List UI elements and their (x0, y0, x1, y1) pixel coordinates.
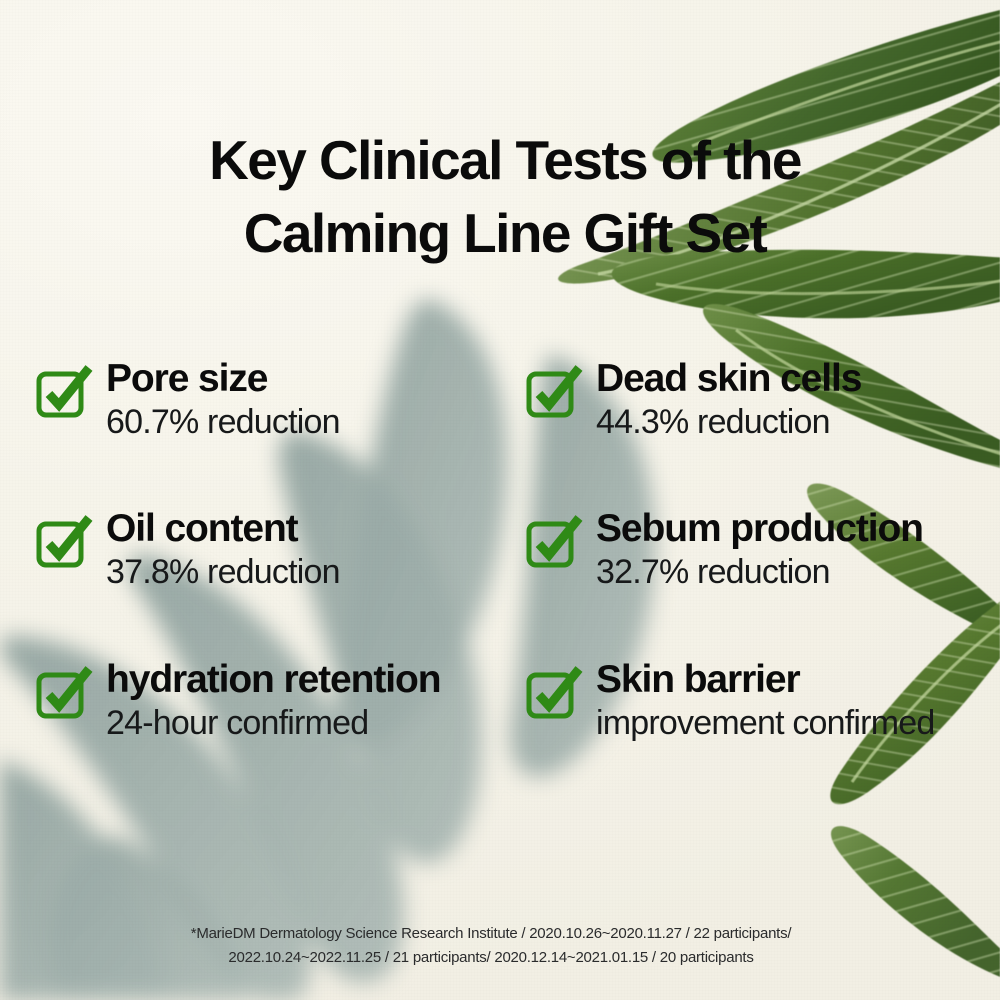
page-title-line-2: Calming Line Gift Set (10, 197, 1000, 270)
metric-subtitle: 44.3% reduction (596, 403, 830, 441)
metric-item-oil-content: Oil content 37.8% reduction (0, 508, 500, 594)
metric-subtitle: 24-hour confirmed (106, 704, 368, 742)
metric-title: hydration retention (106, 658, 440, 701)
poster-content: Key Clinical Tests of the Calming Line G… (0, 0, 1000, 1000)
page-title: Key Clinical Tests of the Calming Line G… (0, 124, 1000, 269)
metric-title: Sebum production (596, 507, 923, 550)
metric-item-hydration-retention: hydration retention 24-hour confirmed (0, 659, 500, 745)
metric-labels: Pore size 60.7% reduction (106, 358, 500, 444)
metric-item-sebum-production: Sebum production 32.7% reduction (500, 508, 1000, 594)
study-footnote-line-1: *MarieDM Dermatology Science Research In… (0, 922, 982, 946)
metric-item-skin-barrier: Skin barrier improvement confirmed (500, 659, 1000, 745)
page-title-line-1: Key Clinical Tests of the (10, 124, 1000, 197)
results-row: Pore size 60.7% reduction Dead skin cell… (0, 358, 1000, 444)
metric-title: Dead skin cells (596, 357, 861, 400)
checkbox-checked-icon (526, 667, 584, 719)
study-footnote-line-2: 2022.10.24~2022.11.25 / 21 participants/… (0, 946, 982, 970)
metric-labels: hydration retention 24-hour confirmed (106, 659, 500, 745)
checkbox-checked-icon (526, 516, 584, 568)
study-footnote: *MarieDM Dermatology Science Research In… (0, 922, 1000, 971)
checkbox-checked-icon (36, 366, 94, 418)
clinical-results-grid: Pore size 60.7% reduction Dead skin cell… (0, 358, 1000, 745)
metric-title: Pore size (106, 357, 267, 400)
metric-subtitle: 60.7% reduction (106, 403, 340, 441)
metric-item-pore-size: Pore size 60.7% reduction (0, 358, 500, 444)
checkbox-checked-icon (526, 366, 584, 418)
metric-labels: Dead skin cells 44.3% reduction (596, 358, 1000, 444)
metric-title: Oil content (106, 507, 298, 550)
metric-subtitle: 32.7% reduction (596, 553, 830, 591)
metric-item-dead-skin-cells: Dead skin cells 44.3% reduction (500, 358, 1000, 444)
checkbox-checked-icon (36, 667, 94, 719)
metric-title: Skin barrier (596, 658, 800, 701)
metric-subtitle: 37.8% reduction (106, 553, 340, 591)
metric-labels: Oil content 37.8% reduction (106, 508, 500, 594)
results-row: hydration retention 24-hour confirmed Sk… (0, 659, 1000, 745)
metric-subtitle: improvement confirmed (596, 704, 934, 742)
results-row: Oil content 37.8% reduction Sebum produc… (0, 508, 1000, 594)
metric-labels: Sebum production 32.7% reduction (596, 508, 1000, 594)
clinical-test-poster: Key Clinical Tests of the Calming Line G… (0, 0, 1000, 1000)
checkbox-checked-icon (36, 516, 94, 568)
metric-labels: Skin barrier improvement confirmed (596, 659, 1000, 745)
